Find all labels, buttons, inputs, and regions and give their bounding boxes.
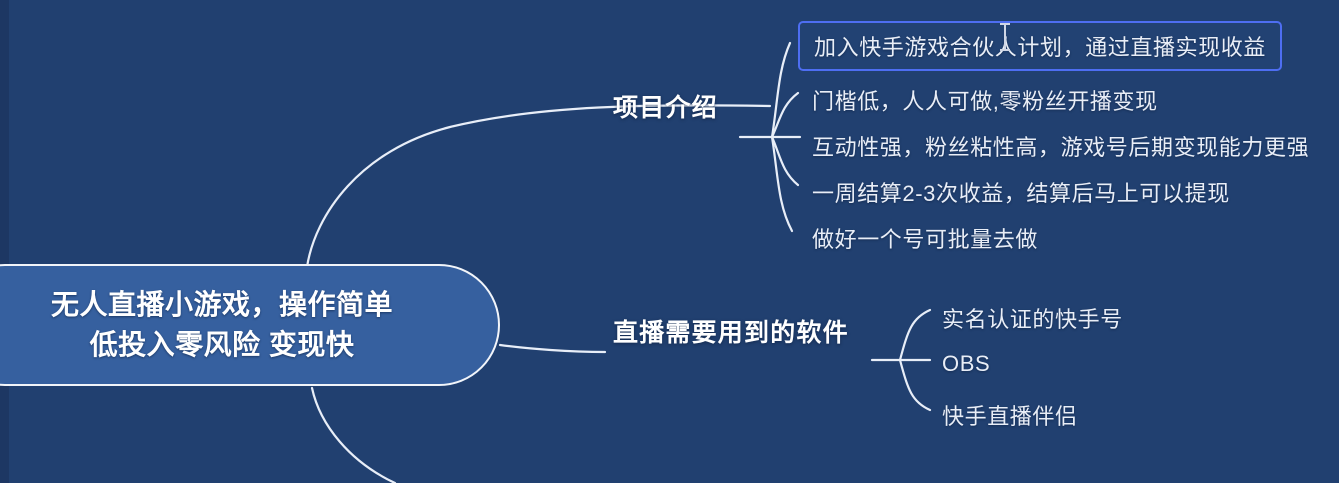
link-topic1-item-1 [772,43,790,137]
leaf-item[interactable]: 门楷低，人人可做,零粉丝开播变现 [806,81,1164,119]
link-root-to-lower-branch [312,388,395,483]
leaf-item[interactable]: 实名认证的快手号 [936,299,1129,337]
link-root-to-topic-2 [500,345,605,352]
leaf-item[interactable]: 互动性强，粉丝粘性高，游戏号后期变现能力更强 [806,127,1315,165]
link-topic2-item-1 [900,310,930,360]
branch-label-project-intro[interactable]: 项目介绍 [613,88,718,124]
root-node[interactable]: 无人直播小游戏，操作简单 低投入零风险 变现快 [0,264,500,386]
leaf-item[interactable]: 做好一个号可批量去做 [806,219,1044,257]
mindmap-canvas[interactable]: 无人直播小游戏，操作简单 低投入零风险 变现快 项目介绍 直播需要用到的软件 加… [0,0,1339,483]
left-edge-gutter [0,0,9,483]
link-topic1-item-5 [772,137,792,231]
connector-lines [0,0,1339,483]
root-node-line-1: 无人直播小游戏，操作简单 [51,285,393,325]
leaf-item[interactable]: 快手直播伴侣 [936,396,1084,434]
branch-label-software[interactable]: 直播需要用到的软件 [613,313,849,349]
root-node-line-2: 低投入零风险 变现快 [90,325,355,365]
leaf-item[interactable]: 一周结算2-3次收益，结算后马上可以提现 [806,173,1236,211]
link-topic1-item-4 [772,137,798,185]
leaf-item-selected[interactable]: 加入快手游戏合伙人计划，通过直播实现收益 [798,21,1282,71]
leaf-item[interactable]: OBS [936,348,996,380]
link-topic2-item-3 [900,360,930,410]
link-root-to-topic-1 [307,105,770,267]
link-topic1-item-2 [772,93,798,137]
